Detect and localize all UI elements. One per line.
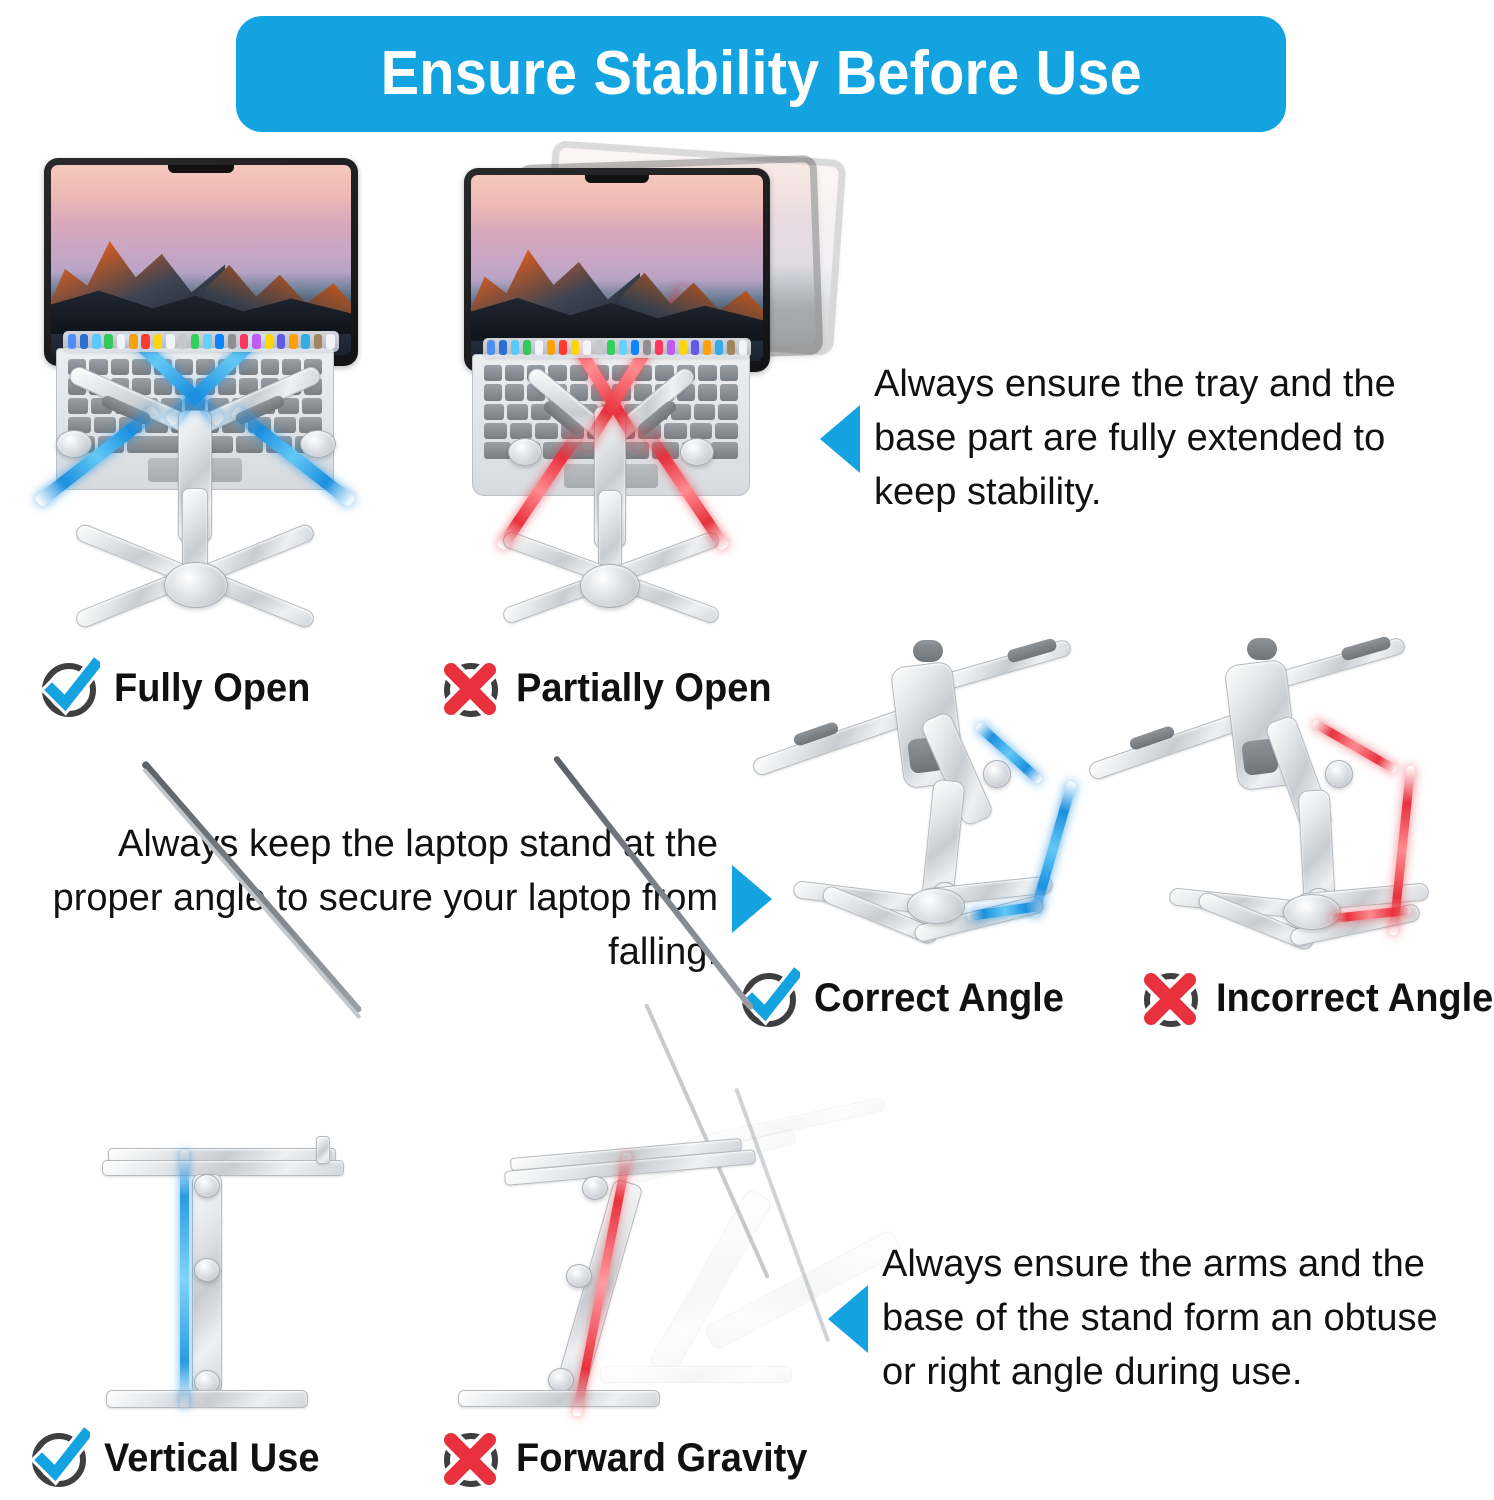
panel-label: Incorrect Angle <box>1216 976 1493 1021</box>
stand-base-hub <box>164 562 228 608</box>
stand-tray-foot-left <box>508 438 542 466</box>
panel-label: Forward Gravity <box>516 1436 807 1481</box>
label-fully-open: Fully Open <box>38 657 321 719</box>
check-circle-icon <box>38 657 100 719</box>
check-circle-icon <box>28 1427 90 1489</box>
stand-column-side <box>192 1174 222 1394</box>
infographic-page: Ensure Stability Before Use <box>0 0 1494 1500</box>
title-banner: Ensure Stability Before Use <box>236 16 1286 132</box>
cross-circle-icon <box>440 1427 502 1489</box>
triangle-right-icon <box>732 865 772 933</box>
stand-column-joint-mid <box>566 1264 592 1288</box>
laptop-lid <box>44 158 358 366</box>
note-obtuse-angle: Always ensure the arms and the base of t… <box>828 1238 1468 1400</box>
stand-column-joint-mid <box>194 1258 220 1282</box>
stand-tray-bar-left <box>751 704 919 777</box>
panel-label: Vertical Use <box>104 1436 319 1481</box>
panel-forward-gravity-illustration <box>436 1008 856 1428</box>
label-incorrect-angle: Incorrect Angle <box>1140 967 1494 1029</box>
angle-indicator-upper <box>1311 719 1399 775</box>
screen-notch <box>585 175 649 183</box>
panel-label: Fully Open <box>114 666 310 711</box>
macos-dock <box>63 331 339 352</box>
stand-tray-foot-right <box>680 438 714 466</box>
stand-tray-foot-right <box>300 430 336 458</box>
cross-circle-icon <box>440 657 502 719</box>
panel-correct-angle-illustration <box>745 620 1105 960</box>
angle-indicator-lower <box>1029 780 1077 917</box>
stand-base-hub <box>580 564 640 608</box>
label-forward-gravity: Forward Gravity <box>440 1427 823 1489</box>
panel-incorrect-angle-illustration <box>1085 620 1465 960</box>
gravity-line-vertical <box>180 1150 189 1408</box>
panel-partially-open-illustration <box>430 150 830 640</box>
triangle-left-icon <box>828 1285 868 1353</box>
screen-notch <box>168 165 234 173</box>
stand-base-side <box>458 1390 660 1407</box>
stand-arm-joint-mid <box>983 760 1011 788</box>
note-tray-base: Always ensure the tray and the base part… <box>820 358 1460 520</box>
panel-vertical-use-illustration <box>24 1008 404 1428</box>
laptop-screen <box>51 165 351 355</box>
stand-arm-joint-mid <box>1325 760 1353 788</box>
stand-column-joint-top <box>582 1176 608 1200</box>
panel-label: Partially Open <box>516 666 772 711</box>
stand-base-hub <box>907 888 965 924</box>
triangle-left-icon <box>820 405 860 473</box>
note-text: Always ensure the arms and the base of t… <box>882 1238 1468 1400</box>
page-title: Ensure Stability Before Use <box>380 43 1141 105</box>
stand-column-joint-bottom <box>548 1368 574 1392</box>
laptop-lid <box>464 168 770 372</box>
stand-tray-lip <box>316 1136 330 1164</box>
stand-column-joint-top <box>194 1174 220 1198</box>
label-partially-open: Partially Open <box>440 657 785 719</box>
cross-circle-icon <box>1140 967 1202 1029</box>
panel-fully-open-illustration <box>28 158 378 638</box>
label-vertical-use: Vertical Use <box>28 1427 331 1489</box>
stand-base-hub <box>1283 894 1341 930</box>
stand-tray-foot-left <box>56 430 92 458</box>
laptop-screen <box>471 175 763 361</box>
macos-dock <box>483 338 752 358</box>
stand-base-side <box>106 1390 308 1408</box>
stand-tray-stopper-top <box>1247 638 1277 660</box>
stand-tray-side <box>102 1160 344 1176</box>
stand-tray-stopper-top <box>913 640 943 662</box>
note-text: Always ensure the tray and the base part… <box>874 358 1460 520</box>
note-text: Always keep the laptop stand at the prop… <box>6 818 718 980</box>
